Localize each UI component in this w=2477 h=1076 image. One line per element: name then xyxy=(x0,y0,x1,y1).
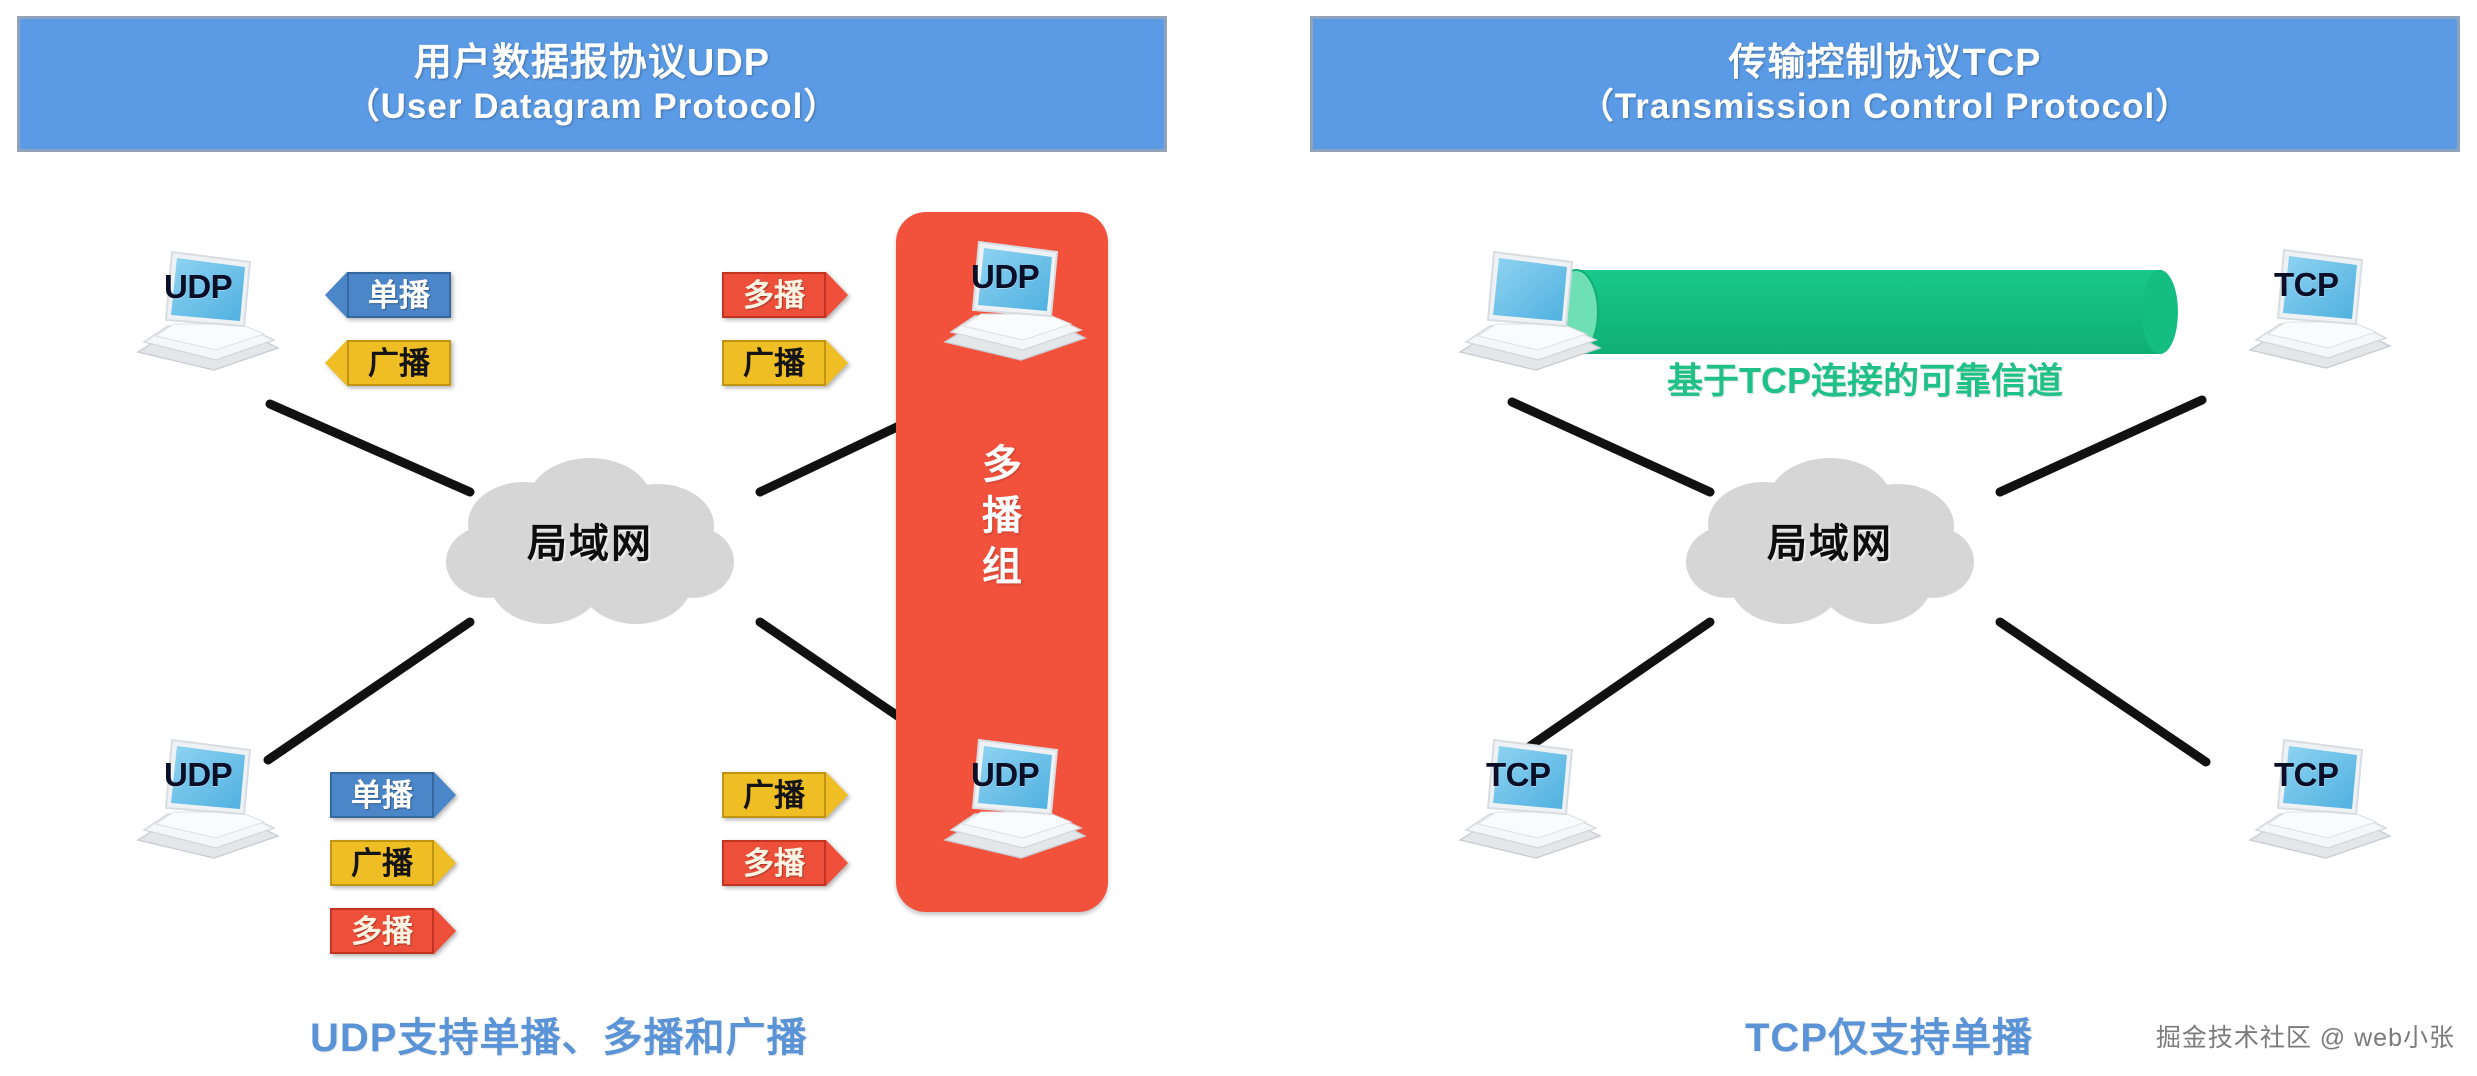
tcp-node-bottom-right[interactable]: TCP xyxy=(2240,728,2400,860)
udp-title-cn: 用户数据报协议UDP xyxy=(414,41,770,86)
badge-multicast-br-label: 多播 xyxy=(722,840,826,886)
badge-multicast-tr-label: 多播 xyxy=(722,272,826,318)
diagram-canvas: 用户数据报协议UDP （User Datagram Protocol） 传输控制… xyxy=(0,0,2477,1076)
arrow-tip-right-icon xyxy=(434,772,456,818)
udp-caption: UDP支持单播、多播和广播 xyxy=(310,1005,807,1063)
tcp-lan-cloud: 局域网 xyxy=(1680,440,1980,640)
tcp-title-panel: 传输控制协议TCP （Transmission Control Protocol… xyxy=(1310,16,2460,152)
arrow-tip-left-icon xyxy=(325,272,347,318)
badge-unicast-tl[interactable]: 单播 xyxy=(325,272,451,318)
arrow-tip-left-icon xyxy=(325,340,347,386)
laptop-icon xyxy=(2240,238,2400,370)
badge-broadcast-tl[interactable]: 广播 xyxy=(325,340,451,386)
tcp-node-top-right[interactable]: TCP xyxy=(2240,238,2400,370)
badge-unicast-bl-label: 单播 xyxy=(330,772,434,818)
udp-node-bottom-left[interactable]: UDP xyxy=(128,728,288,860)
badge-multicast-br[interactable]: 多播 xyxy=(722,840,848,886)
badge-broadcast-br-label: 广播 xyxy=(722,772,826,818)
badge-multicast-bl[interactable]: 多播 xyxy=(330,908,456,954)
badge-broadcast-bl-label: 广播 xyxy=(330,840,434,886)
laptop-icon xyxy=(1450,240,1610,372)
badge-broadcast-tr-label: 广播 xyxy=(722,340,826,386)
tcp-caption: TCP仅支持单播 xyxy=(1745,1005,2033,1063)
udp-lan-cloud: 局域网 xyxy=(440,440,740,640)
udp-node-bottom-right[interactable]: UDP xyxy=(935,728,1095,860)
arrow-tip-right-icon xyxy=(434,840,456,886)
badge-broadcast-bl[interactable]: 广播 xyxy=(330,840,456,886)
badge-broadcast-br[interactable]: 广播 xyxy=(722,772,848,818)
multicast-group-label: 多 播 组 xyxy=(896,440,1108,594)
laptop-icon xyxy=(935,230,1095,362)
badge-unicast-tl-label: 单播 xyxy=(347,272,451,318)
udp-node-top-left[interactable]: UDP xyxy=(128,240,288,372)
tcp-node-bottom-left[interactable]: TCP xyxy=(1450,728,1610,860)
udp-title-en: （User Datagram Protocol） xyxy=(345,86,840,127)
tcp-node-top-left[interactable]: TCP xyxy=(1450,240,1610,372)
badge-multicast-tr[interactable]: 多播 xyxy=(722,272,848,318)
arrow-tip-right-icon xyxy=(826,272,848,318)
arrow-tip-right-icon xyxy=(434,908,456,954)
tcp-reliable-channel xyxy=(1548,262,2178,362)
udp-node-top-right[interactable]: UDP xyxy=(935,230,1095,362)
badge-multicast-bl-label: 多播 xyxy=(330,908,434,954)
udp-title-panel: 用户数据报协议UDP （User Datagram Protocol） xyxy=(17,16,1167,152)
udp-lan-cloud-label: 局域网 xyxy=(440,440,740,640)
tcp-title-cn: 传输控制协议TCP xyxy=(1728,41,2041,86)
tcp-title-en: （Transmission Control Protocol） xyxy=(1579,86,2191,127)
multicast-char-1: 多 xyxy=(896,440,1108,491)
multicast-char-3: 组 xyxy=(896,542,1108,593)
arrow-tip-right-icon xyxy=(826,840,848,886)
arrow-tip-right-icon xyxy=(826,340,848,386)
badge-unicast-bl[interactable]: 单播 xyxy=(330,772,456,818)
arrow-tip-right-icon xyxy=(826,772,848,818)
watermark: 掘金技术社区 @ web小张 xyxy=(2156,1018,2455,1054)
laptop-icon xyxy=(1450,728,1610,860)
tcp-lan-cloud-label: 局域网 xyxy=(1680,440,1980,640)
laptop-icon xyxy=(128,240,288,372)
laptop-icon xyxy=(2240,728,2400,860)
badge-broadcast-tl-label: 广播 xyxy=(347,340,451,386)
badge-broadcast-tr[interactable]: 广播 xyxy=(722,340,848,386)
laptop-icon xyxy=(128,728,288,860)
multicast-char-2: 播 xyxy=(896,491,1108,542)
tcp-channel-label: 基于TCP连接的可靠信道 xyxy=(1545,352,2185,404)
channel-tube-icon xyxy=(1548,262,2178,362)
laptop-icon xyxy=(935,728,1095,860)
